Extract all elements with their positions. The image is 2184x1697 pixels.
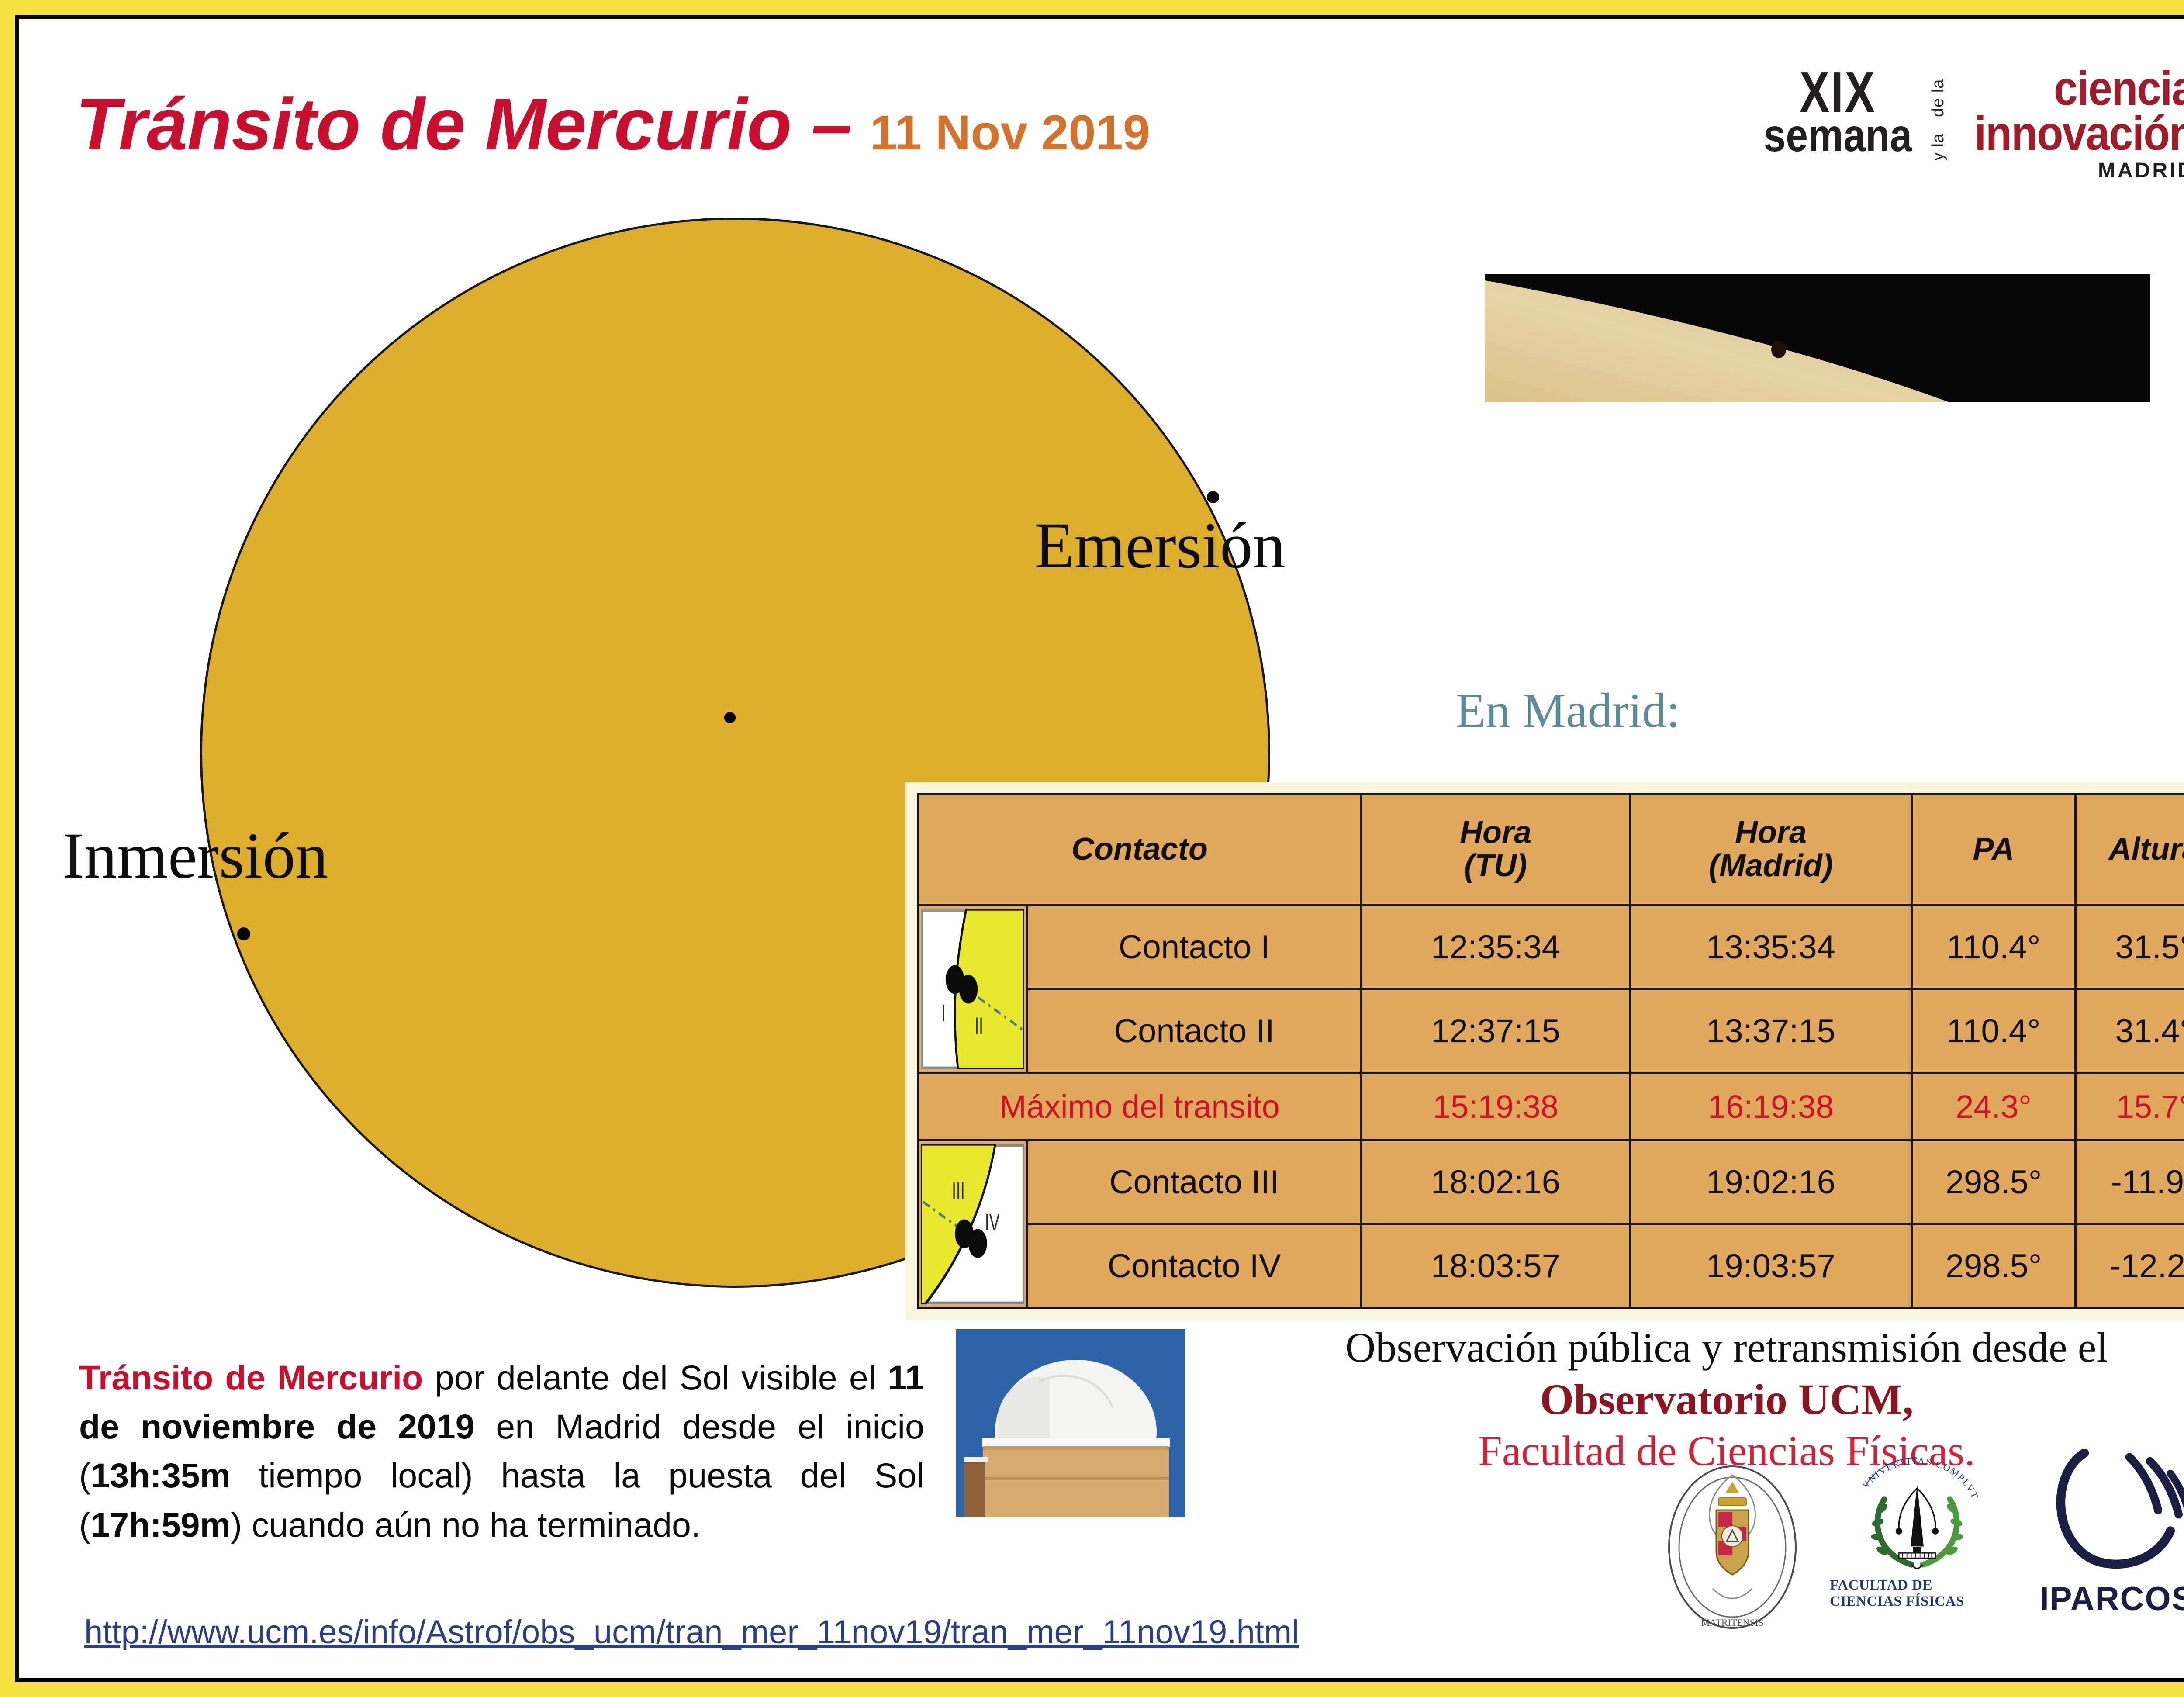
row-hora-tu: 12:37:15 <box>1362 990 1629 1072</box>
row-altura: -11.9° <box>2077 1141 2184 1223</box>
header-hora-madrid-l2: (Madrid) <box>1709 848 1833 883</box>
table-row: III IV Contacto III 18:02:16 19:02:16 29… <box>919 1141 2184 1223</box>
ucm-seal-logo: MATRITENSIS <box>1660 1458 1804 1632</box>
mercury-dot-maximum <box>724 712 736 723</box>
paragraph-t1: por delante del Sol visible el <box>423 1358 888 1397</box>
row-hora-madrid: 16:19:38 <box>1631 1074 1911 1139</box>
logo-y-la: y la <box>1930 133 1946 171</box>
row-altura: -12.2° <box>2077 1225 2184 1307</box>
row-name: Contacto I <box>1028 906 1360 988</box>
iparcos-logo: IPARCOS <box>2030 1449 2184 1632</box>
row-hora-madrid: 13:37:15 <box>1631 990 1911 1072</box>
row-name: Contacto IV <box>1028 1225 1360 1307</box>
row-hora-tu: 12:35:34 <box>1362 906 1629 988</box>
row-pa: 298.5° <box>1913 1225 2074 1307</box>
logo-madrid-word: MADRID <box>2098 159 2184 183</box>
row-altura: 31.4° <box>2077 990 2184 1072</box>
label-inmersion: Inmersión <box>62 818 328 893</box>
contacts-table: Contacto Hora (TU) Hora (Madrid) PA Altu… <box>917 793 2184 1309</box>
header-hora-madrid-l1: Hora <box>1735 815 1807 850</box>
facultad-ciencias-fisicas-logo: VNIVERSITAS COMPLVTENSIS <box>1830 1445 2004 1632</box>
header-hora-tu: Hora (TU) <box>1362 795 1629 904</box>
semana-ciencia-logo: XIX semana de la y la ciencia innovación… <box>1752 67 2184 198</box>
table-row: I II Contacto I 12:35:34 13:35:34 110.4°… <box>919 906 2184 988</box>
row-hora-madrid: 13:35:34 <box>1631 906 1911 988</box>
poster-border: Tránsito de Mercurio – 11 Nov 2019 XIX s… <box>0 0 2184 1697</box>
iparcos-logo-label: IPARCOS <box>2040 1580 2184 1618</box>
description-paragraph: Tránsito de Mercurio por delante del Sol… <box>79 1353 924 1549</box>
header-hora-madrid: Hora (Madrid) <box>1631 795 1911 904</box>
transit-photo <box>1485 274 2150 402</box>
row-pa: 24.3° <box>1913 1074 2074 1139</box>
paragraph-b2: 13h:35m <box>90 1456 231 1495</box>
header-contacto: Contacto <box>919 795 1360 904</box>
row-pa: 110.4° <box>1913 906 2074 988</box>
header-hora-tu-l2: (TU) <box>1464 848 1527 883</box>
semana-logo-right: ciencia innovación MADRID <box>1950 67 2184 183</box>
row-hora-tu: 18:03:57 <box>1362 1225 1629 1307</box>
label-emersion: Emersión <box>1034 508 1286 583</box>
egress-contact-diagram-icon: III IV <box>919 1141 1026 1307</box>
observatory-photo <box>956 1329 1185 1517</box>
row-pa: 110.4° <box>1913 990 2074 1072</box>
mercury-dot-ingress <box>237 927 250 940</box>
ucm-seal-motto: MATRITENSIS <box>1701 1617 1763 1628</box>
semana-logo-left: XIX semana <box>1752 67 1924 157</box>
logo-de-la: de la <box>1930 79 1946 131</box>
logo-innovacion-word: innovación <box>1974 112 2184 155</box>
table-row: Contacto IV 18:03:57 19:03:57 298.5° -12… <box>919 1225 2184 1307</box>
row-hora-tu: 15:19:38 <box>1362 1074 1629 1139</box>
logo-ciencia-word: ciencia <box>2054 67 2184 110</box>
event-url-link[interactable]: http://www.ucm.es/info/Astrof/obs_ucm/tr… <box>84 1613 1299 1651</box>
ingress-contact-diagram-icon: I II <box>919 906 1026 1072</box>
poster-canvas: Tránsito de Mercurio – 11 Nov 2019 XIX s… <box>19 19 2184 1678</box>
row-name: Contacto III <box>1028 1141 1360 1223</box>
en-madrid-label: En Madrid: <box>1456 683 1680 739</box>
header-pa: PA <box>1913 795 2074 904</box>
paragraph-t4: ) cuando aún no ha terminado. <box>231 1505 701 1544</box>
icon-label-IV: IV <box>985 1209 1000 1236</box>
row-pa: 298.5° <box>1913 1141 2074 1223</box>
row-name: Máximo del transito <box>919 1074 1360 1139</box>
row-altura: 15.7° <box>2077 1074 2184 1139</box>
row-altura: 31.5° <box>2077 906 2184 988</box>
icon-label-III: III <box>952 1177 965 1204</box>
logo-semana-word: semana <box>1763 115 1912 156</box>
row-hora-madrid: 19:03:57 <box>1631 1225 1911 1307</box>
svg-text:VNIVERSITAS COMPLVTENSIS: VNIVERSITAS COMPLVTENSIS <box>1840 1445 1980 1501</box>
row-hora-tu: 18:02:16 <box>1362 1141 1629 1223</box>
table-header-row: Contacto Hora (TU) Hora (Madrid) PA Altu… <box>919 795 2184 904</box>
icon-label-I: I <box>941 999 946 1026</box>
header-hora-tu-l1: Hora <box>1460 815 1531 850</box>
mercury-dot-egress <box>1207 491 1219 503</box>
header-altura: Altura <box>2077 795 2184 904</box>
paragraph-lead: Tránsito de Mercurio <box>79 1358 423 1397</box>
table-row: Contacto II 12:37:15 13:37:15 110.4° 31.… <box>919 990 2184 1072</box>
poster-inner-frame: Tránsito de Mercurio – 11 Nov 2019 XIX s… <box>15 15 2184 1682</box>
sponsor-logos: MATRITENSIS VNIVERSITAS COMPLVTENSIS <box>1660 1445 2184 1632</box>
announcement-observatory: Observatorio UCM, <box>1224 1376 2184 1424</box>
semana-logo-vertical-words: de la y la <box>1930 79 1946 171</box>
paragraph-b3: 17h:59m <box>90 1505 231 1544</box>
icon-label-II: II <box>975 1013 983 1040</box>
contacts-table-panel: Contacto Hora (TU) Hora (Madrid) PA Altu… <box>905 782 2184 1320</box>
row-name: Contacto II <box>1028 990 1360 1072</box>
row-hora-madrid: 19:02:16 <box>1631 1141 1911 1223</box>
announcement-line-1: Observación pública y retransmisión desd… <box>1224 1325 2184 1370</box>
table-row-maximum: Máximo del transito 15:19:38 16:19:38 24… <box>919 1074 2184 1139</box>
facultad-logo-label: FACULTAD DE CIENCIAS FÍSICAS <box>1830 1577 2004 1610</box>
